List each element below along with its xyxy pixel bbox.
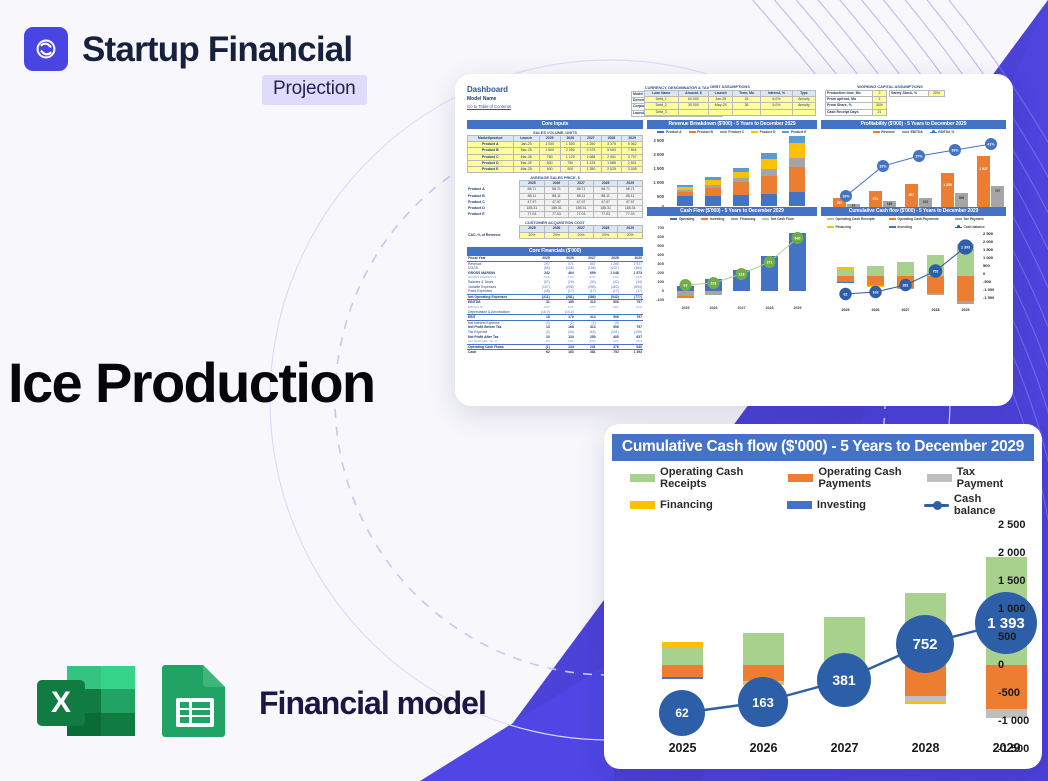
- chart-legend: Operating Cash Receipts Operating Cash P…: [612, 461, 1034, 517]
- svg-text:571: 571: [873, 197, 879, 201]
- svg-text:2028: 2028: [766, 306, 774, 310]
- svg-text:62: 62: [684, 283, 688, 287]
- average-price-table: 2025 2026 2027 2028 2029 Product A58.715…: [467, 180, 643, 218]
- financial-row-value: 62: [527, 350, 551, 355]
- financial-row-label: Cash: [467, 350, 527, 355]
- svg-text:2029: 2029: [794, 306, 802, 310]
- svg-text:2027: 2027: [902, 308, 910, 312]
- debt-block-caption: DEBT ASSUMPTIONS: [644, 84, 816, 89]
- brand-lockup: Startup Financial: [24, 27, 352, 71]
- sales-volume-table: Market/product Launch 2025 2026 2027 202…: [467, 135, 643, 173]
- cac-table: 2025 2026 2027 2028 2029 CAC, % of Reven…: [467, 225, 643, 238]
- revenue-breakdown-title: Revenue Breakdown ($'000) - 5 Years to D…: [647, 120, 817, 129]
- cumulative-cash-flow-title: Cumulative Cash flow ($'000) - 5 Years t…: [821, 207, 1006, 216]
- cumulative-cash-flow-legend: Operating Cash Receipts Operating Cash P…: [821, 217, 1006, 229]
- svg-text:500: 500: [657, 194, 665, 199]
- legend-item-investing: Investing: [787, 493, 924, 517]
- data-label-2026: 163: [738, 677, 788, 727]
- svg-text:2025: 2025: [842, 308, 850, 312]
- svg-text:-500: -500: [983, 279, 992, 284]
- data-label-2027: 381: [817, 653, 871, 707]
- data-label-2028: 752: [896, 615, 954, 673]
- svg-text:1 500: 1 500: [983, 247, 994, 252]
- svg-text:797: 797: [995, 189, 1001, 193]
- poster-canvas: Startup Financial Projection Ice Product…: [0, 0, 1048, 781]
- debt-assumptions-table: Loan Name Amount, $ Launch Term, Mo Inte…: [644, 90, 816, 116]
- svg-text:371: 371: [767, 260, 773, 264]
- svg-text:300: 300: [657, 261, 664, 266]
- svg-text:2026: 2026: [710, 306, 718, 310]
- svg-text:185: 185: [887, 202, 893, 206]
- table-row: Safety Stock, %20%: [890, 91, 945, 97]
- cumulative-cash-flow-card[interactable]: Cumulative Cash flow ($'000) - 5 Years t…: [604, 424, 1042, 769]
- financial-row-value: 1 393: [620, 350, 643, 355]
- svg-text:37%: 37%: [915, 154, 923, 158]
- svg-text:381: 381: [903, 283, 909, 287]
- svg-text:2029: 2029: [962, 308, 970, 312]
- svg-text:2025: 2025: [682, 306, 690, 310]
- svg-text:41%: 41%: [987, 142, 995, 146]
- table-row: CAC, % of Revenue20%20%20%20%20%: [467, 232, 643, 238]
- format-badges: X Financial model: [35, 662, 486, 745]
- x-axis-labels: 2025 2026 2027 2028 2029: [642, 741, 1042, 755]
- excel-file-icon: X: [35, 662, 139, 745]
- svg-text:506: 506: [959, 196, 965, 200]
- svg-text:313: 313: [923, 200, 929, 204]
- svg-text:500: 500: [657, 243, 664, 248]
- data-label-2025: 62: [659, 690, 705, 736]
- toc-link[interactable]: Go to Table of Contents: [467, 104, 620, 109]
- svg-text:700: 700: [657, 225, 664, 230]
- bar-group-2025: [662, 642, 703, 679]
- profitability-title: Profitability ($'000) - 5 Years to Decem…: [821, 120, 1006, 129]
- chart-plot-area: 62 163 381 752 1 393 2 500 2 000 1 500 1…: [612, 517, 1042, 765]
- svg-text:-100: -100: [656, 297, 665, 302]
- legend-item-operating-cash-payments: Operating Cash Payments: [788, 466, 926, 490]
- financial-row-value: 752: [597, 350, 620, 355]
- brand-title: Startup Financial: [82, 32, 352, 67]
- model-name-label: Model Name: [467, 96, 620, 102]
- core-financials-table: Fiscal Year 2025 2026 2027 2028 2029 Rev…: [467, 256, 643, 355]
- google-sheets-file-icon: [157, 662, 233, 745]
- legend-item-operating-cash-receipts: Operating Cash Receipts: [630, 466, 788, 490]
- svg-text:200: 200: [657, 270, 664, 275]
- core-financials-section-title: Core Financials ($'000): [467, 247, 643, 256]
- cash-flow-chart: 700600500400 3002001000-100: [647, 221, 817, 311]
- svg-text:1 927: 1 927: [979, 167, 988, 171]
- page-title: Ice Production: [8, 352, 375, 414]
- svg-text:1 500: 1 500: [654, 166, 665, 171]
- svg-text:2 000: 2 000: [983, 239, 994, 244]
- svg-text:1 000: 1 000: [983, 255, 994, 260]
- svg-text:1 000: 1 000: [654, 180, 665, 185]
- format-badge-label: Financial model: [259, 685, 486, 722]
- financial-row-value: 381: [575, 350, 597, 355]
- svg-text:100: 100: [657, 279, 664, 284]
- svg-text:X: X: [51, 686, 71, 719]
- cumulative-cash-flow-chart: 2 5002 0001 5001 000 5000-500-1 000-1 50…: [821, 229, 1006, 313]
- revenue-breakdown-chart: 2 5002 0001 500 1 0005000: [647, 134, 817, 214]
- cash-flow-title: Cash Flow ($'000) - 5 Years to December …: [647, 207, 817, 216]
- svg-text:857: 857: [909, 193, 915, 197]
- table-row: Cash621633817521 393: [467, 350, 643, 355]
- dashboard-sheet: Dashboard Model Name Go to Table of Cont…: [461, 81, 1007, 399]
- safety-stock-table: Safety Stock, %20%: [889, 90, 945, 97]
- svg-text:2 500: 2 500: [983, 231, 994, 236]
- dashboard-title: Dashboard: [467, 85, 620, 94]
- svg-text:0: 0: [983, 271, 986, 276]
- svg-text:0: 0: [662, 288, 665, 293]
- y-axis-labels: 2 500 2 000 1 500 1 000 500 0 -500 -1 00…: [990, 517, 1042, 737]
- brand-subtitle: Projection: [262, 75, 367, 105]
- working-capital-table: Production time, Mo2 Prom upfront, Mo2 P…: [825, 90, 887, 116]
- svg-text:163: 163: [873, 290, 879, 294]
- svg-text:600: 600: [657, 234, 664, 239]
- table-row: Product EMar-256009001 3502 0253 038: [468, 167, 643, 173]
- table-row: Product E77.0377.0377.0377.0377.03: [467, 212, 643, 218]
- brand-e-logo-icon: [24, 27, 68, 71]
- legend-item-financing: Financing: [630, 493, 787, 517]
- svg-text:2028: 2028: [932, 308, 940, 312]
- chart-title: Cumulative Cash flow ($'000) - 5 Years t…: [612, 434, 1034, 461]
- svg-text:2 000: 2 000: [654, 152, 665, 157]
- svg-text:400: 400: [657, 252, 664, 257]
- legend-item-tax-payment: Tax Payment: [927, 466, 1016, 490]
- table-row: Cash Receipt Days21: [826, 109, 887, 115]
- table-row: Debt_3: [645, 109, 816, 115]
- profitability-chart: 10%32%37%39%41% 2975718571 2851 927 3118…: [821, 134, 1006, 214]
- svg-text:101: 101: [711, 281, 717, 285]
- svg-text:39%: 39%: [951, 148, 959, 152]
- svg-text:2 500: 2 500: [654, 138, 665, 143]
- svg-text:-1 000: -1 000: [983, 287, 995, 292]
- svg-text:1 285: 1 285: [943, 183, 952, 187]
- legend-item-cash-balance: Cash balance: [924, 493, 1016, 517]
- svg-text:500: 500: [983, 263, 990, 268]
- svg-text:62: 62: [844, 292, 848, 296]
- financial-row-value: 163: [551, 350, 575, 355]
- svg-text:2027: 2027: [738, 306, 746, 310]
- svg-text:32%: 32%: [879, 164, 887, 168]
- svg-text:218: 218: [739, 272, 745, 276]
- core-inputs-section-title: Core Inputs: [467, 120, 643, 129]
- svg-text:2026: 2026: [872, 308, 880, 312]
- svg-text:10%: 10%: [842, 194, 850, 198]
- working-capital-caption: WORKING CAPITAL ASSUMPTIONS: [825, 84, 955, 89]
- svg-text:640: 640: [795, 236, 801, 240]
- svg-text:752: 752: [933, 269, 939, 273]
- dashboard-preview-card[interactable]: Dashboard Model Name Go to Table of Cont…: [455, 74, 1013, 406]
- svg-text:1 393: 1 393: [961, 245, 970, 249]
- svg-text:-1 500: -1 500: [983, 295, 995, 300]
- svg-text:297: 297: [837, 201, 843, 205]
